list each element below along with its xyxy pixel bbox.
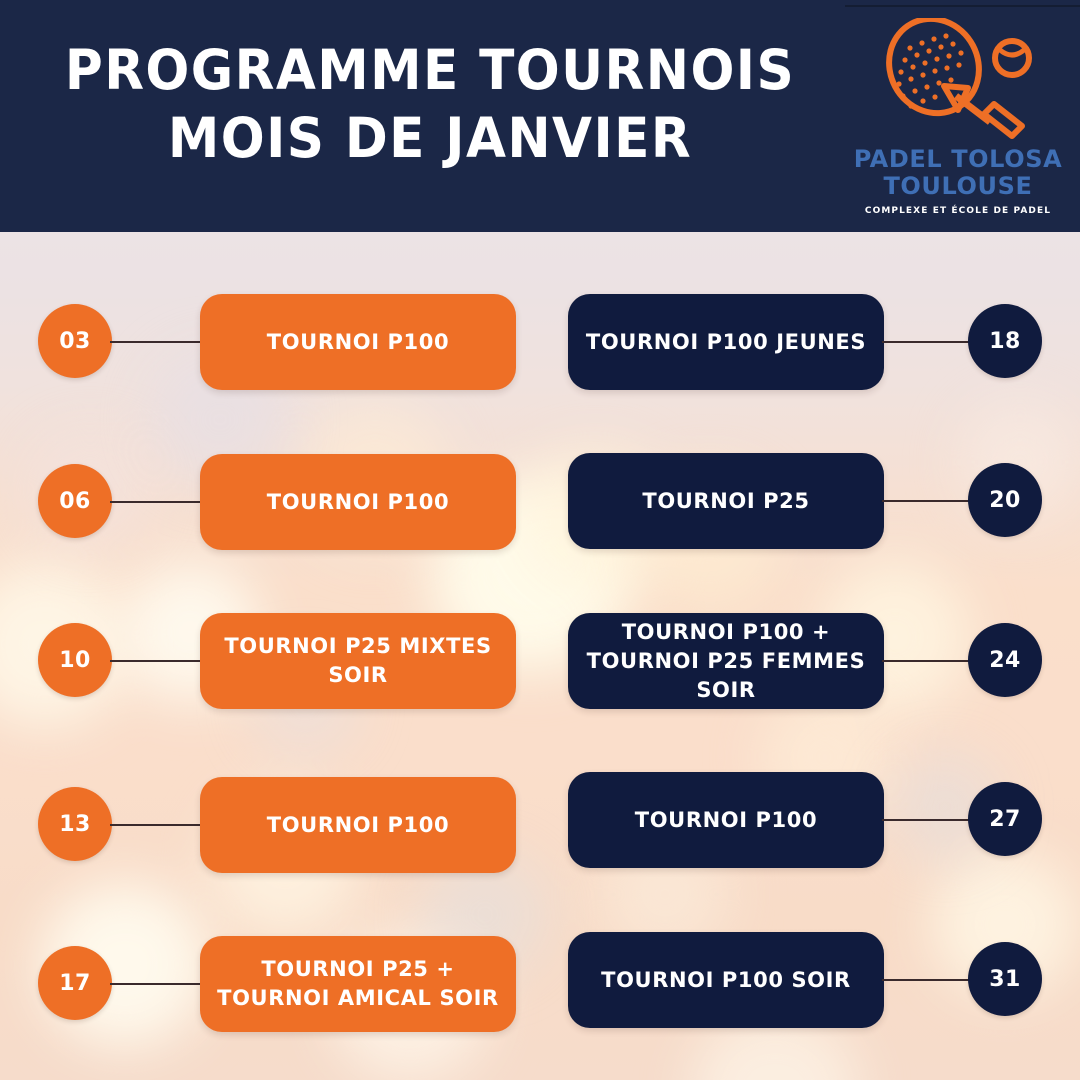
connector-line (110, 341, 204, 343)
day-badge[interactable]: 20 (968, 463, 1042, 537)
event-label-line: TOURNOI P100 (267, 328, 449, 357)
connector-line (882, 979, 974, 981)
connector-line (110, 501, 204, 503)
event-pill[interactable]: TOURNOI P25 + TOURNOI AMICAL SOIR (200, 936, 516, 1032)
connector-line (882, 660, 974, 662)
schedule-row-right-5[interactable]: TOURNOI P100 SOIR 31 (568, 932, 1042, 1028)
poster-canvas: PROGRAMME TOURNOIS MOIS DE JANVIER (0, 0, 1080, 1080)
event-label-line: TOURNOI P100 (267, 811, 449, 840)
event-pill[interactable]: TOURNOI P100 (200, 777, 516, 873)
event-label-line: TOURNOI P25 (642, 487, 809, 516)
header-divider-rule (845, 5, 1080, 7)
schedule-row-left-5[interactable]: 17 TOURNOI P25 + TOURNOI AMICAL SOIR (38, 936, 516, 1032)
event-label-line: TOURNOI AMICAL SOIR (217, 984, 499, 1013)
connector-line (110, 660, 204, 662)
day-badge[interactable]: 27 (968, 782, 1042, 856)
event-pill[interactable]: TOURNOI P100 (200, 294, 516, 390)
event-label-line: TOURNOI P100 (635, 806, 817, 835)
schedule-row-left-2[interactable]: 06 TOURNOI P100 (38, 454, 516, 550)
brand-name-line1: PADEL TOLOSA (854, 145, 1063, 173)
event-label-line: TOURNOI P25 + (217, 955, 499, 984)
page-title-line1: PROGRAMME TOURNOIS (65, 38, 795, 102)
event-label-line: TOURNOI P25 MIXTES SOIR (212, 632, 504, 690)
event-pill[interactable]: TOURNOI P100 (568, 772, 884, 868)
schedule-row-right-4[interactable]: TOURNOI P100 27 (568, 772, 1042, 868)
schedule-row-right-2[interactable]: TOURNOI P25 20 (568, 453, 1042, 549)
event-pill[interactable]: TOURNOI P25 MIXTES SOIR (200, 613, 516, 709)
day-badge[interactable]: 24 (968, 623, 1042, 697)
day-badge[interactable]: 13 (38, 787, 112, 861)
brand-tagline: COMPLEXE ET ÉCOLE DE PADEL (852, 206, 1064, 216)
header-banner: PROGRAMME TOURNOIS MOIS DE JANVIER (0, 0, 1080, 232)
event-label-line: TOURNOI P25 FEMMES SOIR (580, 647, 872, 705)
connector-line (882, 341, 974, 343)
padel-racket-and-ball-icon (872, 18, 1052, 144)
event-pill[interactable]: TOURNOI P100 (200, 454, 516, 550)
day-badge[interactable]: 17 (38, 946, 112, 1020)
page-title: PROGRAMME TOURNOIS MOIS DE JANVIER (26, 36, 834, 172)
connector-line (882, 819, 974, 821)
brand-name-line2: TOULOUSE (852, 173, 1064, 200)
brand-name: PADEL TOLOSA TOULOUSE (852, 146, 1064, 200)
schedule-row-left-4[interactable]: 13 TOURNOI P100 (38, 777, 516, 873)
schedule-row-left-3[interactable]: 10 TOURNOI P25 MIXTES SOIR (38, 613, 516, 709)
day-badge[interactable]: 10 (38, 623, 112, 697)
day-badge[interactable]: 03 (38, 304, 112, 378)
schedule-row-right-3[interactable]: TOURNOI P100 + TOURNOI P25 FEMMES SOIR 2… (568, 613, 1042, 709)
day-badge[interactable]: 06 (38, 464, 112, 538)
day-badge[interactable]: 18 (968, 304, 1042, 378)
schedule-row-right-1[interactable]: TOURNOI P100 JEUNES 18 (568, 294, 1042, 390)
brand-logo: PADEL TOLOSA TOULOUSE COMPLEXE ET ÉCOLE … (852, 18, 1064, 224)
day-badge[interactable]: 31 (968, 942, 1042, 1016)
page-title-line2: MOIS DE JANVIER (26, 104, 834, 172)
event-label-line: TOURNOI P100 (267, 488, 449, 517)
event-pill[interactable]: TOURNOI P100 JEUNES (568, 294, 884, 390)
event-label-line: TOURNOI P100 JEUNES (586, 328, 866, 357)
event-label-line: TOURNOI P100 + (580, 618, 872, 647)
connector-line (882, 500, 974, 502)
connector-line (110, 983, 204, 985)
event-pill[interactable]: TOURNOI P100 SOIR (568, 932, 884, 1028)
connector-line (110, 824, 204, 826)
schedule-row-left-1[interactable]: 03 TOURNOI P100 (38, 294, 516, 390)
event-pill[interactable]: TOURNOI P25 (568, 453, 884, 549)
event-label-line: TOURNOI P100 SOIR (601, 966, 851, 995)
event-pill[interactable]: TOURNOI P100 + TOURNOI P25 FEMMES SOIR (568, 613, 884, 709)
